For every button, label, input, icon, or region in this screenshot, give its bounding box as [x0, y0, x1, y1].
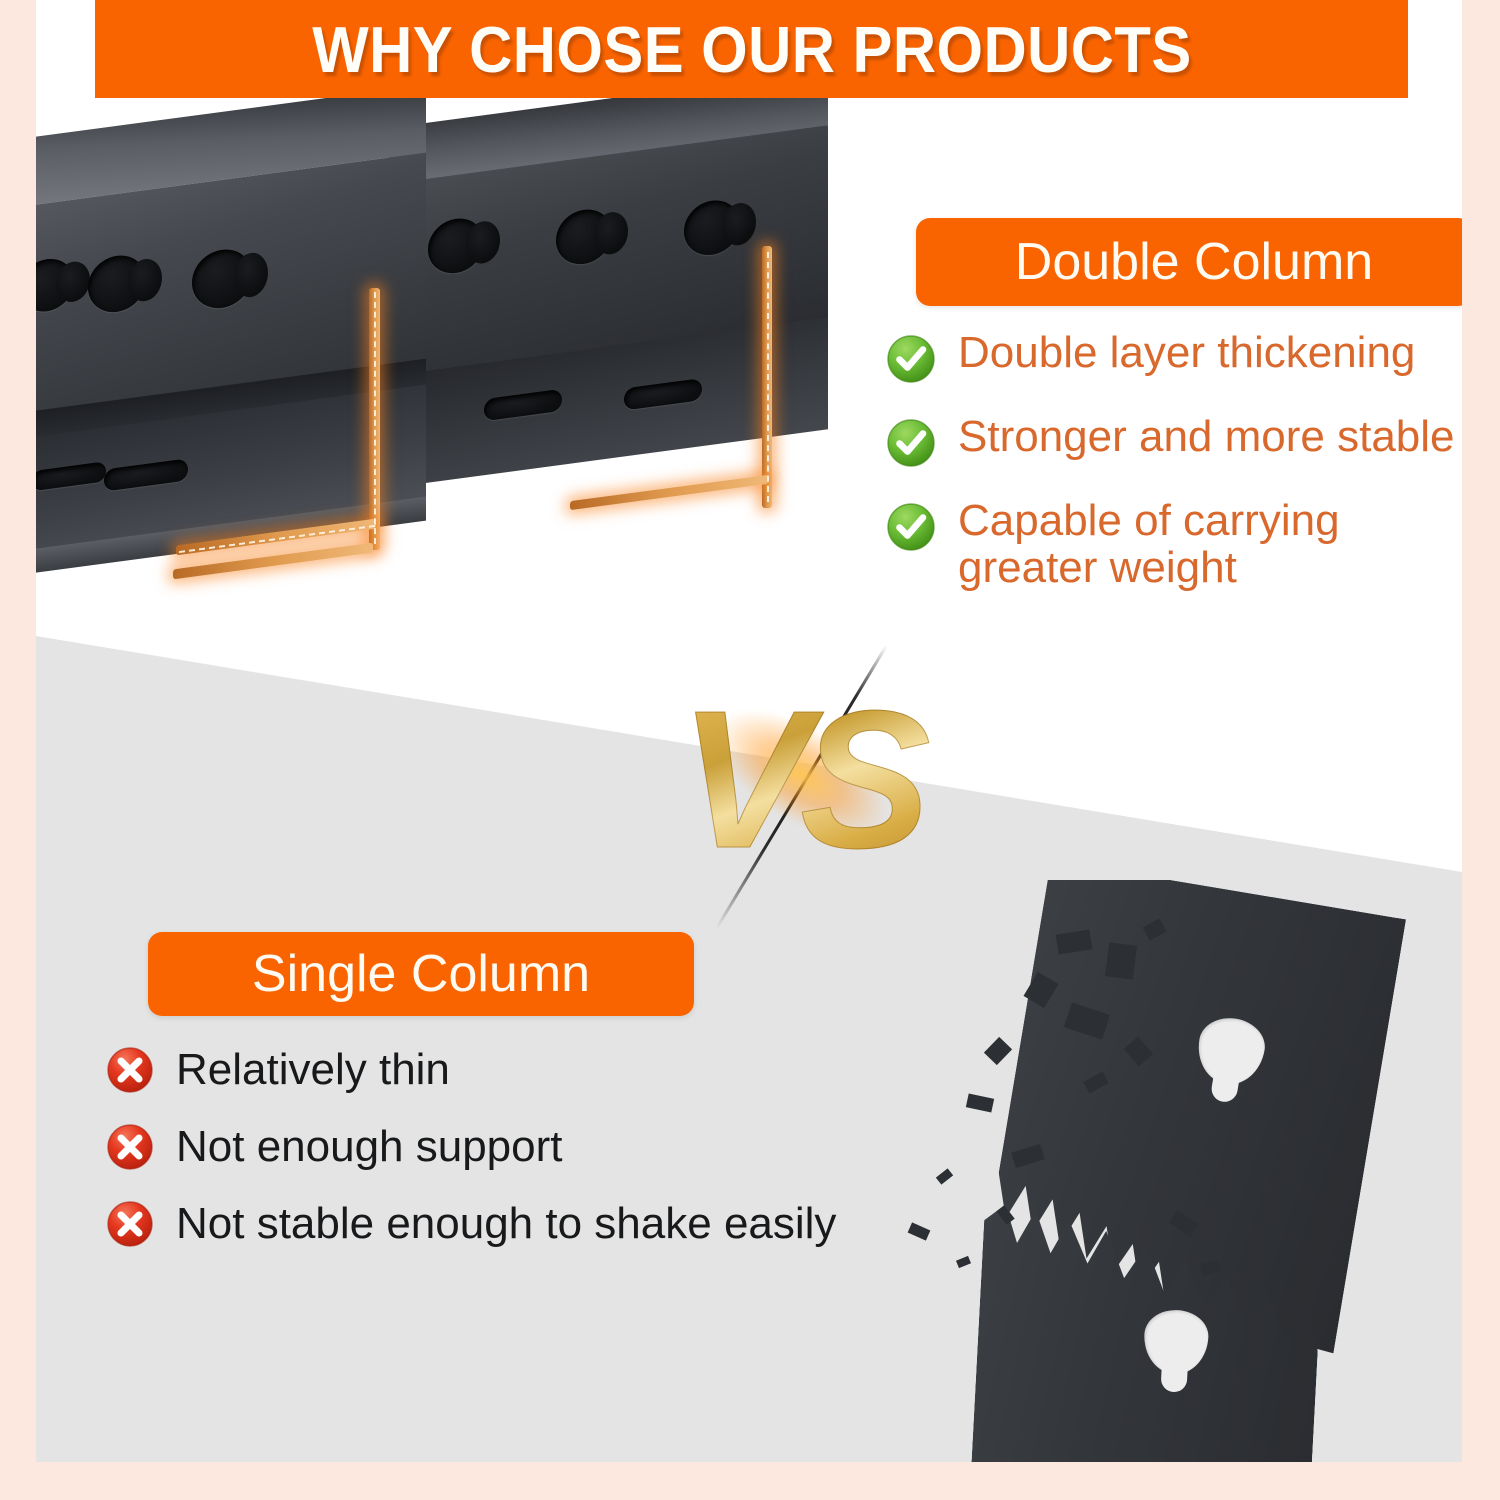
- debris-shard: [1105, 942, 1137, 979]
- back-rail-slot: [428, 215, 484, 276]
- header-banner: WHY CHOSE OUR PRODUCTS: [95, 0, 1408, 98]
- pros-list-item: Stronger and more stable: [886, 414, 1462, 468]
- pros-list-item: Double layer thickening: [886, 330, 1462, 384]
- double-column-rail-photo: [36, 150, 826, 620]
- check-circle-icon: [886, 502, 936, 552]
- rail-end-edge-highlight-lower: [570, 475, 768, 510]
- cons-list-item: Not stable enough to shake easily: [106, 1200, 966, 1248]
- pros-list-item: Capable of carrying greater weight: [886, 498, 1462, 591]
- pros-list: Double layer thickening Stronger and mor…: [886, 330, 1462, 621]
- single-column-badge-label: Single Column: [252, 944, 590, 1004]
- single-column-badge[interactable]: Single Column: [148, 932, 694, 1016]
- pros-list-item-label: Capable of carrying greater weight: [958, 498, 1388, 591]
- double-column-badge-label: Double Column: [1015, 232, 1373, 292]
- check-circle-icon: [886, 418, 936, 468]
- front-rail-slot: [36, 256, 74, 315]
- check-circle-icon: [886, 334, 936, 384]
- cons-list-item-label: Not stable enough to shake easily: [176, 1201, 836, 1248]
- rail-end-dashes: [767, 252, 769, 502]
- poster-canvas: Double Column: [36, 0, 1462, 1462]
- versus-divider: VS: [650, 640, 950, 920]
- post-keyhole-slot: [1142, 1308, 1209, 1375]
- debris-shard: [966, 1093, 994, 1112]
- cons-list-item: Not enough support: [106, 1123, 966, 1171]
- pros-list-item-label: Stronger and more stable: [958, 414, 1455, 461]
- cons-list-item: Relatively thin: [106, 1046, 966, 1094]
- back-rail-oval-slot: [484, 389, 562, 421]
- front-rail-oval-slot: [104, 458, 188, 491]
- debris-shard: [984, 1037, 1012, 1065]
- cons-list-item-label: Not enough support: [176, 1124, 563, 1171]
- post-keyhole-slot: [1193, 1013, 1269, 1089]
- front-rail-oval-slot: [36, 461, 106, 491]
- profile-edge-dashes-vertical: [374, 292, 376, 544]
- back-rail-slot: [556, 206, 612, 267]
- cons-list: Relatively thin Not enough support: [106, 1046, 966, 1277]
- cross-circle-icon: [106, 1123, 154, 1171]
- pros-list-item-label: Double layer thickening: [958, 330, 1415, 377]
- poster-root: Double Column: [0, 0, 1500, 1500]
- cons-list-item-label: Relatively thin: [176, 1047, 450, 1094]
- versus-label: VS: [650, 640, 950, 920]
- front-rail-slot: [88, 252, 146, 316]
- back-rail-slot: [684, 197, 740, 258]
- double-column-badge[interactable]: Double Column: [916, 218, 1462, 306]
- page-title: WHY CHOSE OUR PRODUCTS: [312, 12, 1192, 87]
- cross-circle-icon: [106, 1200, 154, 1248]
- back-rail-oval-slot: [624, 378, 702, 410]
- front-rail-slot: [192, 246, 252, 312]
- cross-circle-icon: [106, 1046, 154, 1094]
